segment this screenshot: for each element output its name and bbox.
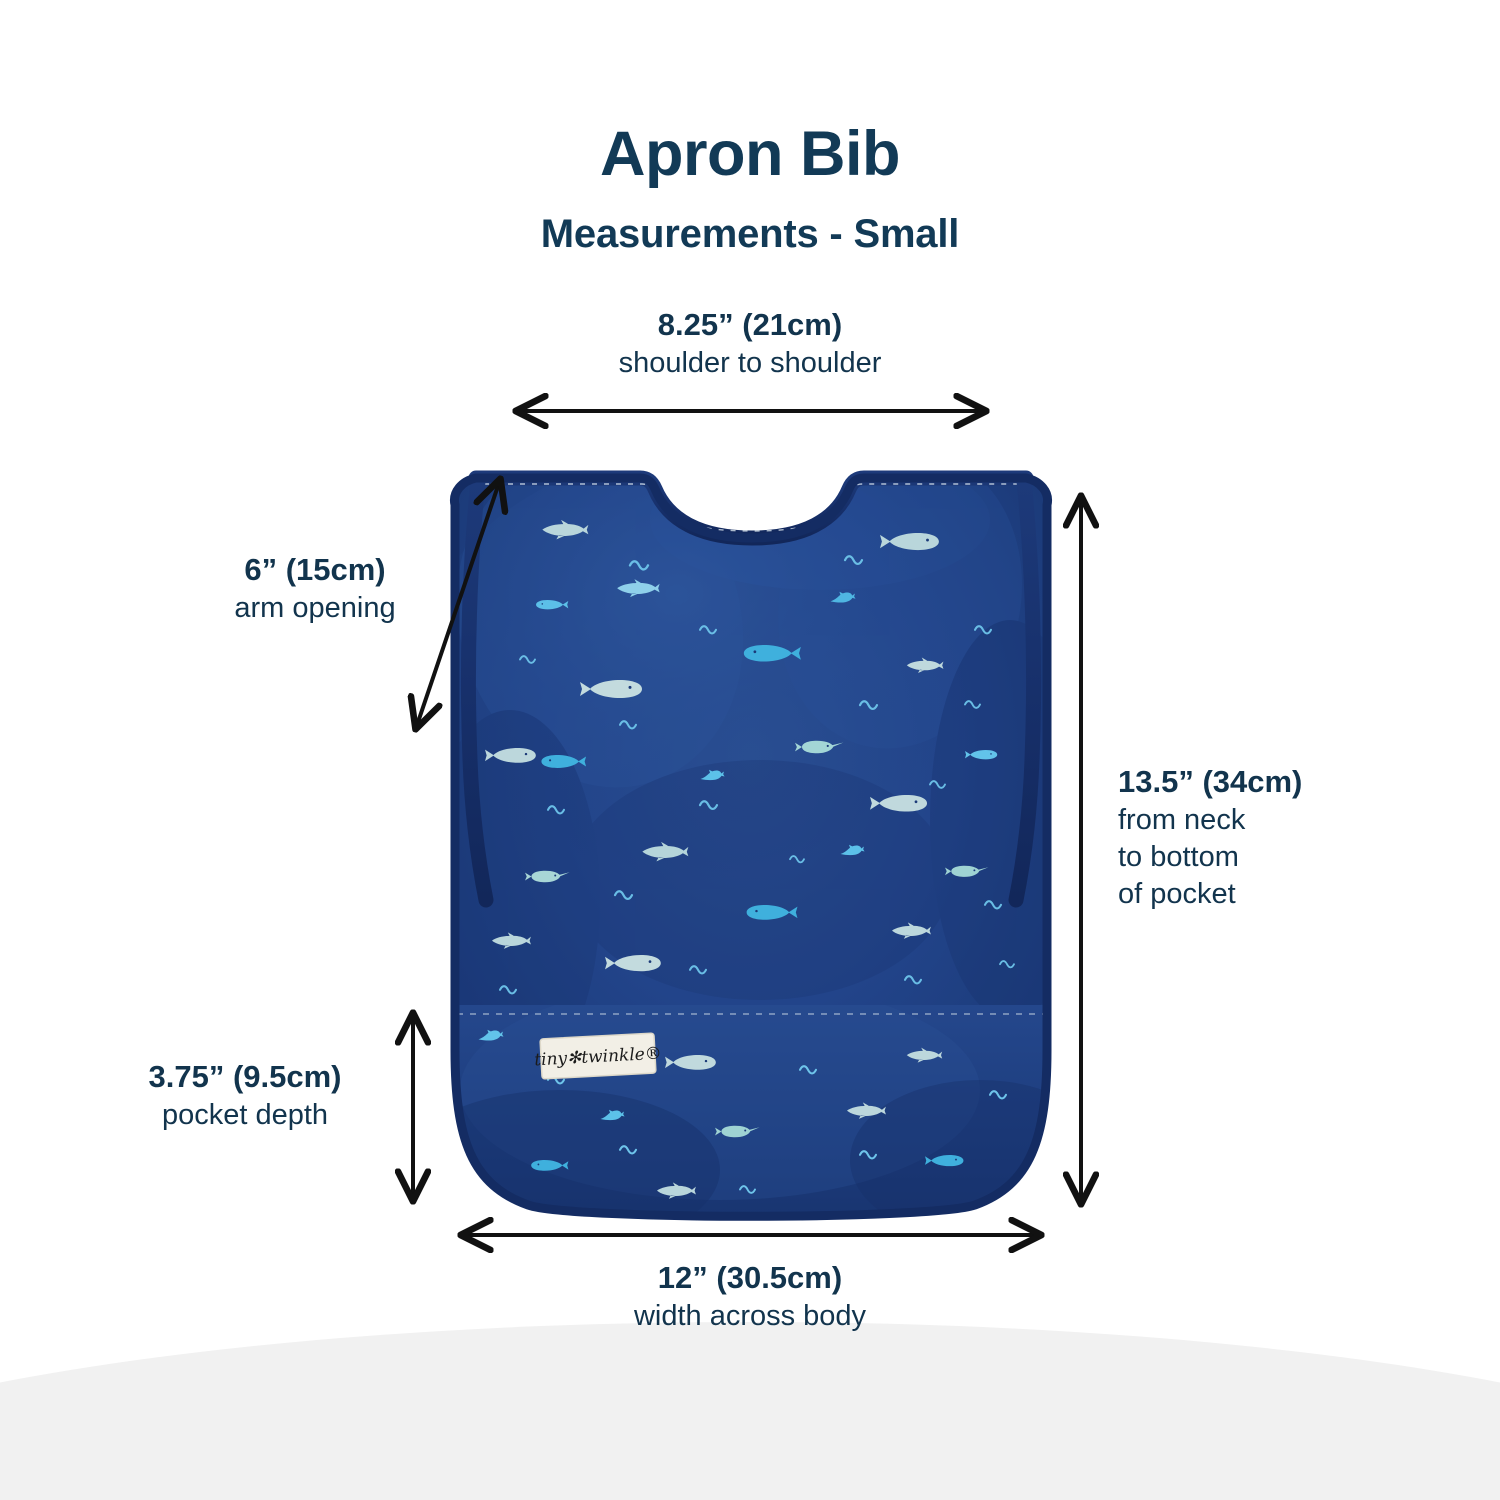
measurement-label-arm-opening: 6” (15cm) arm opening [150,550,480,627]
measurement-label-width-across-body: 12” (30.5cm) width across body [0,1258,1500,1335]
measurement-value: 13.5” (34cm) [1118,762,1448,802]
measurement-diagram-canvas: Apron Bib Measurements - Small [0,0,1500,1500]
page-subtitle: Measurements - Small [0,212,1500,257]
measurement-value: 8.25” (21cm) [0,305,1500,345]
measurement-description-line-1: from neck [1118,802,1448,839]
measurement-label-pocket-depth: 3.75” (9.5cm) pocket depth [85,1057,405,1134]
brand-tag: tiny✻twinkle® [534,1033,663,1079]
measurement-description: arm opening [150,590,480,627]
measurement-value: 3.75” (9.5cm) [85,1057,405,1097]
bib-pocket [400,980,1110,1250]
page-title: Apron Bib [0,118,1500,190]
measurement-value: 6” (15cm) [150,550,480,590]
measurement-description-line-2: to bottom [1118,839,1448,876]
measurement-description: pocket depth [85,1097,405,1134]
measurement-description: width across body [0,1298,1500,1335]
measurement-label-shoulder-to-shoulder: 8.25” (21cm) shoulder to shoulder [0,305,1500,382]
measurement-description-line-3: of pocket [1118,876,1448,913]
measurement-value: 12” (30.5cm) [0,1258,1500,1298]
measurement-description: shoulder to shoulder [0,345,1500,382]
measurement-label-neck-to-pocket-bottom: 13.5” (34cm) from neck to bottom of pock… [1118,762,1448,913]
